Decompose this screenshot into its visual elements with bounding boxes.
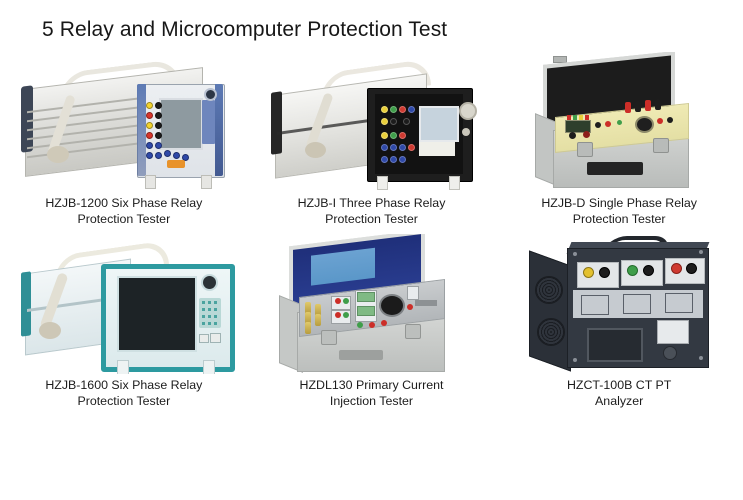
- product-card-hzdl130[interactable]: HZDL130 Primary Current Injection Tester: [248, 234, 496, 416]
- lcd-screen: [419, 106, 459, 142]
- latch-right: [653, 138, 669, 153]
- device-illustration-hzjb-1200: [19, 64, 229, 182]
- terminal-1-live: [583, 267, 594, 278]
- side-bumper: [271, 91, 282, 155]
- circuit-diagram-2: [623, 294, 651, 314]
- rotary-knob: [635, 116, 654, 133]
- terminal-3-neutral: [686, 263, 697, 274]
- lcd-screen: [587, 328, 643, 362]
- caption-line-1: HZJB-1200 Six Phase Relay: [16, 196, 231, 212]
- circuit-diagram-1: [581, 295, 609, 315]
- caption-line-2: Protection Tester: [16, 394, 231, 410]
- fan-grille-upper: [535, 276, 563, 304]
- device-illustration-hzjb-d: [529, 58, 715, 188]
- latch-right: [405, 324, 421, 339]
- product-image-hzjb-1200[interactable]: [11, 52, 236, 192]
- port-usb: [199, 334, 209, 343]
- product-image-hzjb-i[interactable]: [259, 52, 484, 192]
- product-card-hzct-100b[interactable]: HZCT-100B CT PT Analyzer: [495, 234, 743, 416]
- rotary-knob: [459, 102, 477, 120]
- product-caption-hzct-100b: HZCT-100B CT PT Analyzer: [512, 378, 727, 409]
- latch-left: [321, 330, 337, 345]
- latch-left: [577, 142, 593, 157]
- display-green-top: [357, 292, 375, 302]
- label-strip: [419, 142, 455, 156]
- product-caption-hzjb-1200: HZJB-1200 Six Phase Relay Protection Tes…: [16, 196, 231, 227]
- display-right: [407, 286, 419, 300]
- screw-top-left: [573, 252, 577, 256]
- front-rail-right: [215, 84, 223, 176]
- rotary-knob: [379, 294, 405, 317]
- product-card-hzjb-d[interactable]: HZJB-D Single Phase Relay Protection Tes…: [495, 52, 743, 234]
- product-caption-hzjb-1600: HZJB-1600 Six Phase Relay Protection Tes…: [16, 378, 231, 409]
- product-image-hzjb-1600[interactable]: [11, 234, 236, 374]
- foot-left: [377, 176, 388, 190]
- small-knob: [462, 128, 470, 136]
- front-vent: [339, 350, 383, 360]
- side-bumper: [21, 271, 31, 336]
- product-caption-hzjb-d: HZJB-D Single Phase Relay Protection Tes…: [512, 196, 727, 227]
- front-rail-left: [137, 84, 146, 176]
- caption-line-2: Protection Tester: [512, 212, 727, 228]
- product-card-hzjb-1200[interactable]: HZJB-1200 Six Phase Relay Protection Tes…: [0, 52, 248, 234]
- label-plate: [657, 320, 689, 344]
- keypad-strip: [415, 300, 437, 306]
- display-green-bottom: [357, 306, 375, 316]
- arm-pivot-knob: [305, 142, 326, 158]
- caption-line-1: HZJB-I Three Phase Relay: [264, 196, 479, 212]
- terminal-3-live: [671, 263, 682, 274]
- lcd-screen: [117, 276, 197, 352]
- screw-top-right: [699, 250, 703, 254]
- device-illustration-hzjb-1600: [21, 248, 229, 366]
- device-illustration-hzct-100b: [529, 242, 715, 370]
- caption-line-1: HZJB-D Single Phase Relay: [512, 196, 727, 212]
- foot-left: [145, 175, 156, 189]
- caption-line-2: Injection Tester: [264, 394, 479, 410]
- device-illustration-hzjb-i: [271, 66, 477, 182]
- lcd-screen: [159, 98, 203, 150]
- foot-right: [449, 176, 460, 190]
- wiring-diagram-band: [573, 290, 703, 318]
- screw-bottom-right: [699, 356, 703, 360]
- caption-line-1: HZDL130 Primary Current: [264, 378, 479, 394]
- product-card-hzjb-1600[interactable]: HZJB-1600 Six Phase Relay Protection Tes…: [0, 234, 248, 416]
- product-caption-hzdl130: HZDL130 Primary Current Injection Tester: [264, 378, 479, 409]
- keypad: [202, 100, 215, 144]
- device-illustration-hzdl130: [275, 238, 471, 374]
- foot-left: [117, 360, 129, 374]
- case-side: [529, 250, 571, 371]
- foot-right: [203, 360, 215, 374]
- port-serial: [210, 333, 221, 343]
- caption-line-1: HZJB-1600 Six Phase Relay: [16, 378, 231, 394]
- circuit-diagram-3: [665, 293, 693, 313]
- caption-line-2: Analyzer: [512, 394, 727, 410]
- product-image-hzjb-d[interactable]: [507, 52, 732, 192]
- screw-bottom-left: [573, 358, 577, 362]
- product-caption-hzjb-i: HZJB-I Three Phase Relay Protection Test…: [264, 196, 479, 227]
- rotary-encoder: [663, 346, 677, 360]
- fan-grille-lower: [537, 318, 565, 346]
- caption-line-2: Protection Tester: [16, 212, 231, 228]
- product-image-hzct-100b[interactable]: [507, 234, 732, 374]
- terminal-1-neutral: [599, 267, 610, 278]
- keypad: [199, 298, 221, 328]
- status-label: [167, 160, 185, 168]
- product-grid: HZJB-1200 Six Phase Relay Protection Tes…: [0, 52, 743, 416]
- product-image-hzdl130[interactable]: [259, 234, 484, 374]
- caption-line-2: Protection Tester: [264, 212, 479, 228]
- foot-right: [201, 175, 212, 189]
- terminal-2-live: [627, 265, 638, 276]
- product-grid-page: 5 Relay and Microcomputer Protection Tes…: [0, 0, 743, 500]
- front-vent: [587, 162, 643, 175]
- product-card-hzjb-i[interactable]: HZJB-I Three Phase Relay Protection Test…: [248, 52, 496, 234]
- caption-line-1: HZCT-100B CT PT: [512, 378, 727, 394]
- terminal-2-neutral: [643, 265, 654, 276]
- page-title: 5 Relay and Microcomputer Protection Tes…: [42, 18, 447, 42]
